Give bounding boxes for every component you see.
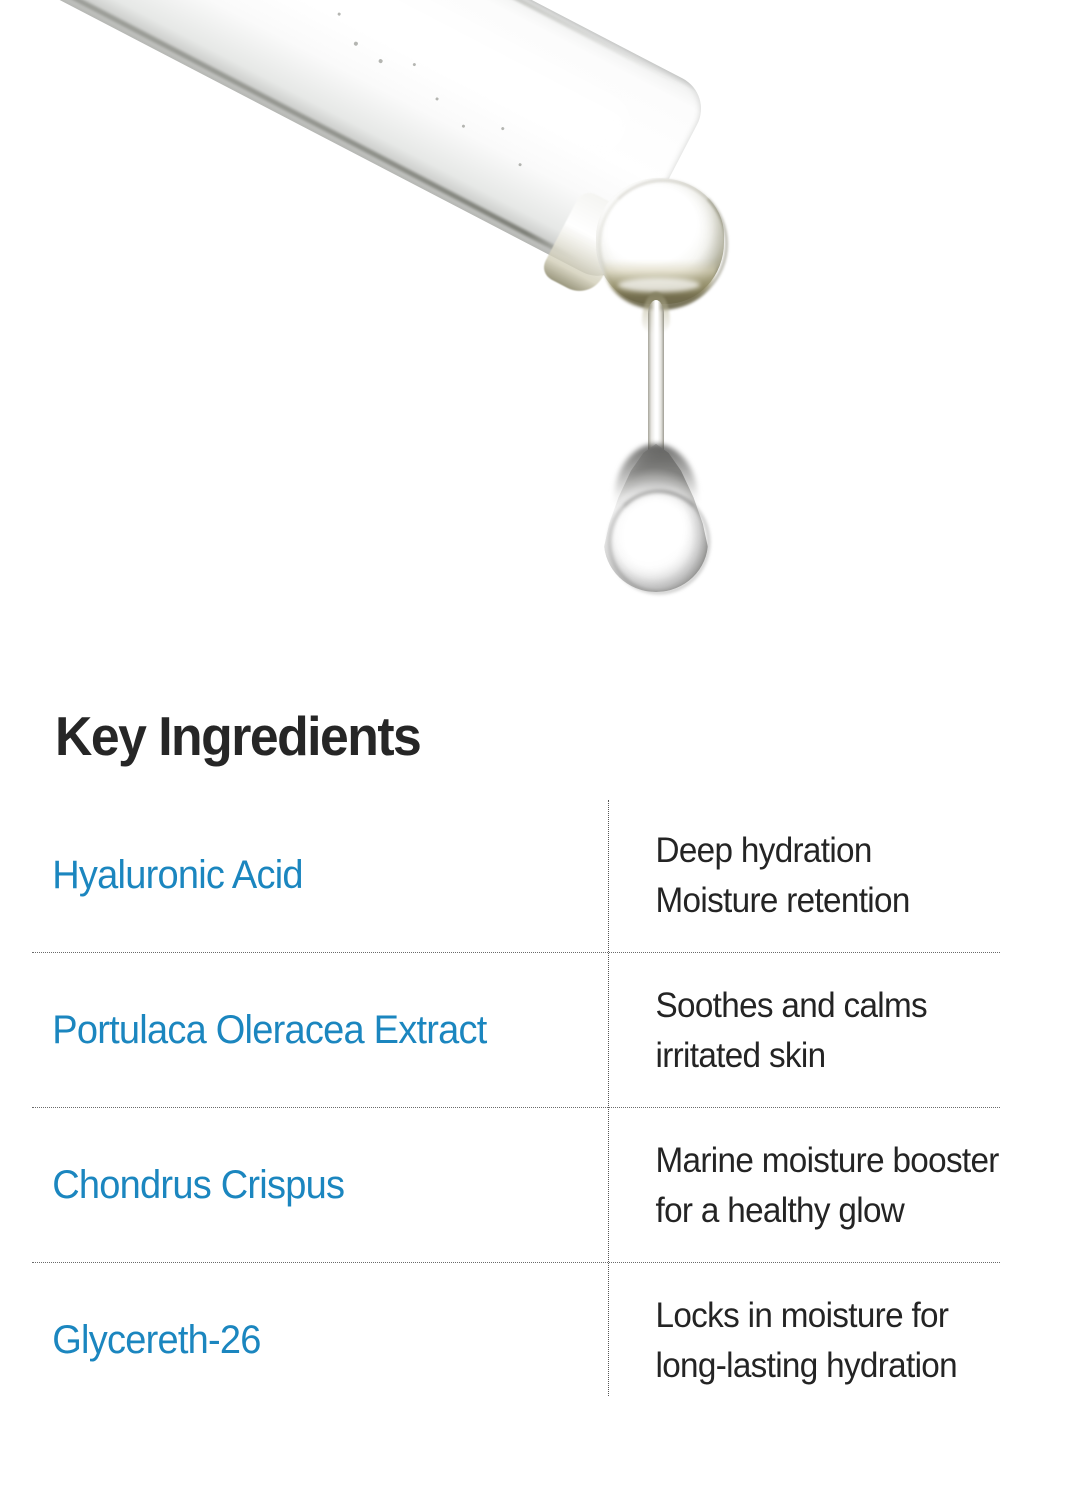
benefit-line: irritated skin (656, 1031, 1034, 1081)
ingredient-benefit: Soothes and calms irritated skin (608, 981, 1056, 1080)
table-row: Glycereth-26 Locks in moisture for long-… (0, 1263, 1080, 1418)
product-detail-page: Key Ingredients Hyaluronic Acid Deep hyd… (0, 0, 1080, 1500)
hero-product-image (0, 0, 1080, 670)
benefit-line: Locks in moisture for (656, 1291, 1034, 1341)
benefit-line: Marine moisture booster (656, 1136, 1034, 1186)
ingredient-benefit: Deep hydration Moisture retention (608, 826, 1056, 925)
ingredients-table: Hyaluronic Acid Deep hydration Moisture … (0, 798, 1080, 1418)
tip-pool-highlight (618, 278, 700, 292)
ingredient-name: Portulaca Oleracea Extract (0, 1007, 578, 1054)
table-row: Portulaca Oleracea Extract Soothes and c… (0, 953, 1080, 1108)
benefit-line: long-lasting hydration (656, 1341, 1034, 1391)
ingredient-benefit: Locks in moisture for long-lasting hydra… (608, 1291, 1056, 1390)
table-row: Hyaluronic Acid Deep hydration Moisture … (0, 798, 1080, 953)
benefit-line: Soothes and calms (656, 981, 1034, 1031)
ingredient-benefit: Marine moisture booster for a healthy gl… (608, 1136, 1056, 1235)
page-title: Key Ingredients (55, 709, 420, 764)
dropper-tip-bulb (596, 178, 724, 310)
ingredient-name: Chondrus Crispus (0, 1162, 578, 1209)
benefit-line: Deep hydration (656, 826, 1034, 876)
ingredient-name: Hyaluronic Acid (0, 852, 578, 899)
table-row: Chondrus Crispus Marine moisture booster… (0, 1108, 1080, 1263)
benefit-line: for a healthy glow (656, 1186, 1034, 1236)
hero-stage (0, 0, 1080, 670)
benefit-line: Moisture retention (656, 876, 1034, 926)
droplet-gloss (626, 496, 686, 558)
key-ingredients-section: Key Ingredients Hyaluronic Acid Deep hyd… (0, 670, 1080, 1500)
falling-droplet (604, 444, 708, 592)
ingredient-name: Glycereth-26 (0, 1317, 578, 1364)
